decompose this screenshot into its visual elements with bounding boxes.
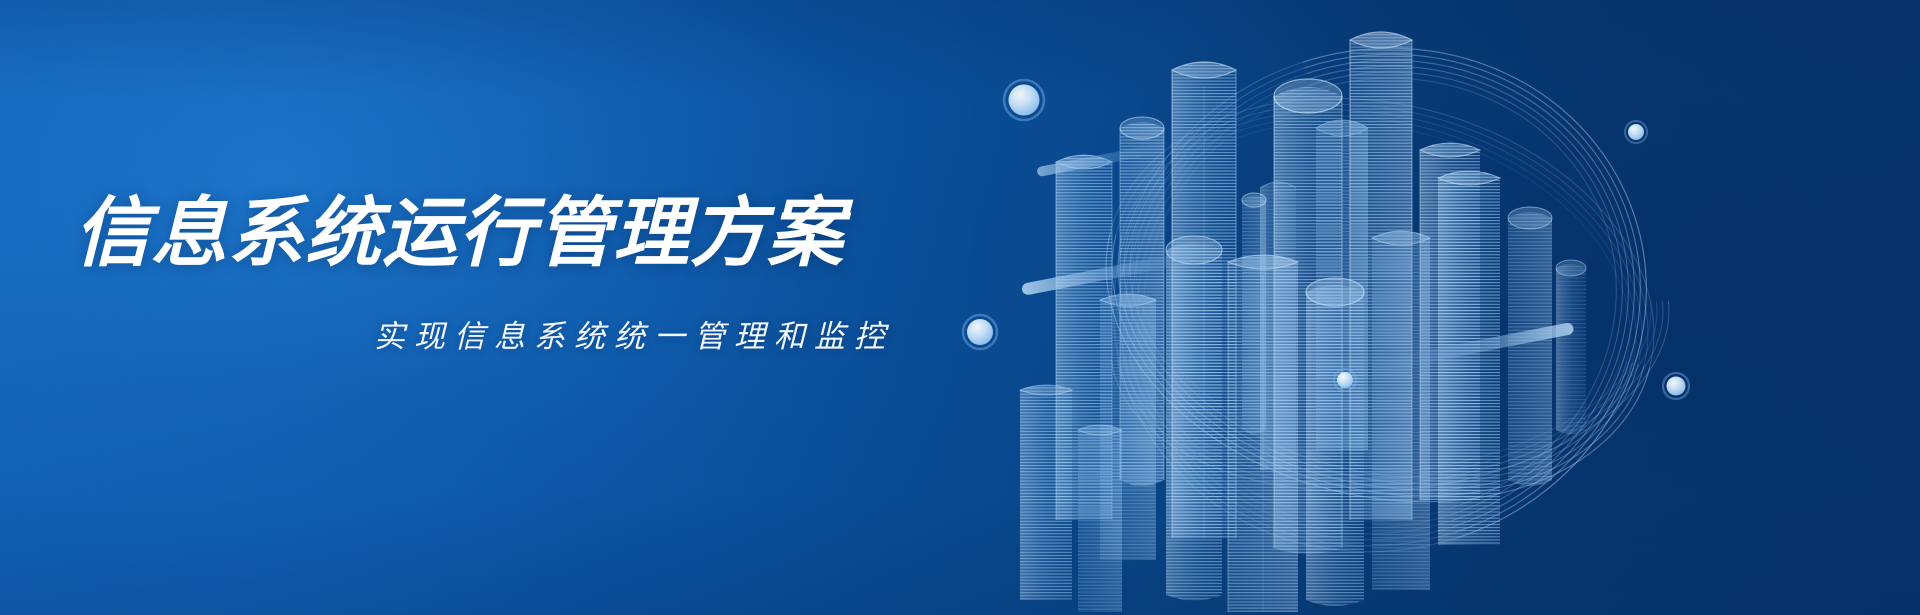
hero-banner: 信息系统运行管理方案 实现信息系统统一管理和监控 xyxy=(0,0,1920,615)
background-gradient xyxy=(0,0,1920,615)
